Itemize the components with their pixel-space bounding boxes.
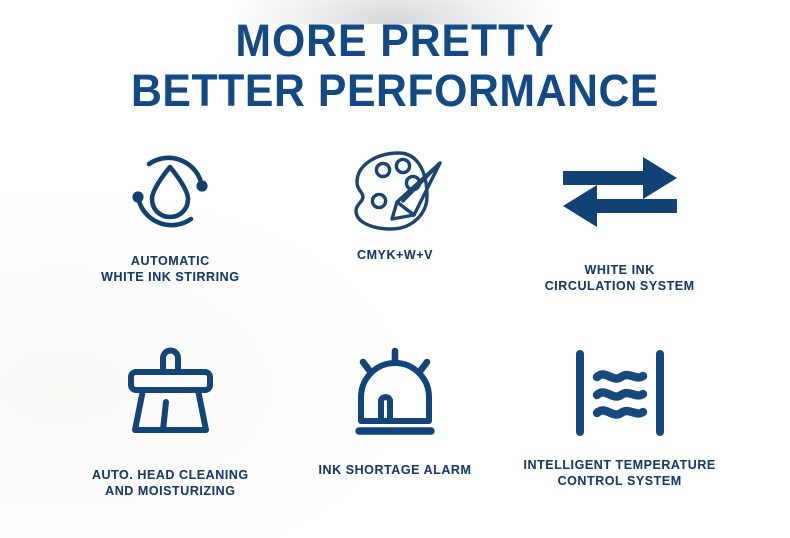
headline-line-1: MORE PRETTY: [20, 18, 771, 63]
paint-palette-brush-icon: [345, 137, 445, 245]
bidirectional-arrows-icon: [561, 137, 679, 245]
feature-grid: AUTOMATIC WHITE INK STIRRING: [0, 137, 790, 537]
feature-label: INK SHORTAGE ALARM: [319, 462, 472, 478]
headline-line-2: BETTER PERFORMANCE: [20, 68, 771, 113]
feature-label: AUTOMATIC WHITE INK STIRRING: [101, 253, 239, 285]
feature-item-automatic-white-ink-stirring: AUTOMATIC WHITE INK STIRRING: [58, 137, 283, 337]
feature-item-temperature-control: INTELLIGENT TEMPERATURE CONTROL SYSTEM: [507, 337, 732, 537]
promo-banner: MORE PRETTY BETTER PERFORMANCE AUTOMATIC…: [0, 0, 790, 538]
feature-label: INTELLIGENT TEMPERATURE CONTROL SYSTEM: [524, 457, 716, 489]
feature-item-cmyk-w-v: CMYK+W+V: [283, 137, 508, 337]
feature-item-white-ink-circulation: WHITE INK CIRCULATION SYSTEM: [507, 137, 732, 337]
feature-item-ink-shortage-alarm: INK SHORTAGE ALARM: [283, 337, 508, 537]
feature-label: AUTO. HEAD CLEANING AND MOISTURIZING: [92, 467, 249, 499]
feature-item-auto-head-cleaning: AUTO. HEAD CLEANING AND MOISTURIZING: [58, 337, 283, 537]
temperature-waves-icon: [573, 337, 667, 449]
page-title: MORE PRETTY BETTER PERFORMANCE: [0, 0, 790, 113]
cleaning-brush-icon: [121, 337, 219, 449]
siren-alarm-icon: [347, 337, 443, 449]
water-drop-circulation-icon: [122, 137, 218, 245]
feature-label: WHITE INK CIRCULATION SYSTEM: [545, 262, 695, 294]
feature-label: CMYK+W+V: [357, 247, 433, 263]
